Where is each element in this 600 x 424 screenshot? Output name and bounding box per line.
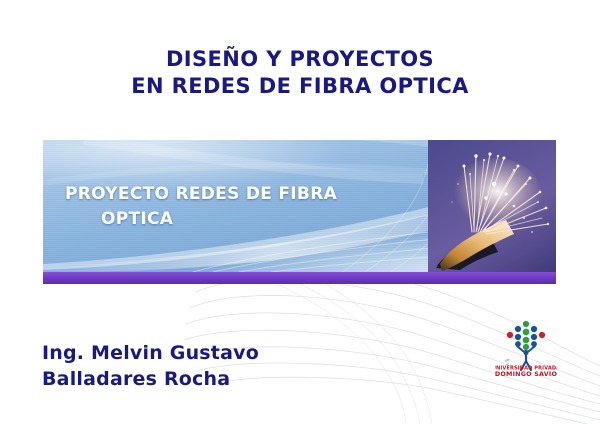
presenter-name: Ing. Melvin Gustavo Balladares Rocha xyxy=(42,340,259,392)
fiber-optic-bundle-photo xyxy=(428,140,556,272)
presentation-slide: DISEÑO Y PROYECTOS EN REDES DE FIBRA OPT… xyxy=(0,0,600,424)
banner-accent-bar xyxy=(43,272,556,284)
slide-title-line-2: EN REDES DE FIBRA OPTICA xyxy=(0,73,600,100)
logo-figure-head xyxy=(523,350,528,355)
logo-text-line-2: DOMINGO SAVIO xyxy=(495,370,557,378)
presenter-name-line-2: Balladares Rocha xyxy=(42,366,259,392)
slide-title: DISEÑO Y PROYECTOS EN REDES DE FIBRA OPT… xyxy=(0,46,600,100)
logo-secondary-mark xyxy=(504,359,510,365)
presenter-name-line-1: Ing. Melvin Gustavo xyxy=(42,340,259,366)
slide-title-line-1: DISEÑO Y PROYECTOS xyxy=(0,46,600,73)
logo-dot-cluster xyxy=(507,321,545,350)
banner: PROYECTO REDES DE FIBRA OPTICA xyxy=(43,140,556,284)
banner-heading-line-1: PROYECTO REDES DE FIBRA xyxy=(65,182,425,207)
banner-heading: PROYECTO REDES DE FIBRA OPTICA xyxy=(65,182,425,232)
banner-heading-line-2: OPTICA xyxy=(65,207,425,232)
universidad-privada-domingo-savio-logo: UNIVERSIDAD PRIVADA DOMINGO SAVIO xyxy=(495,318,557,380)
